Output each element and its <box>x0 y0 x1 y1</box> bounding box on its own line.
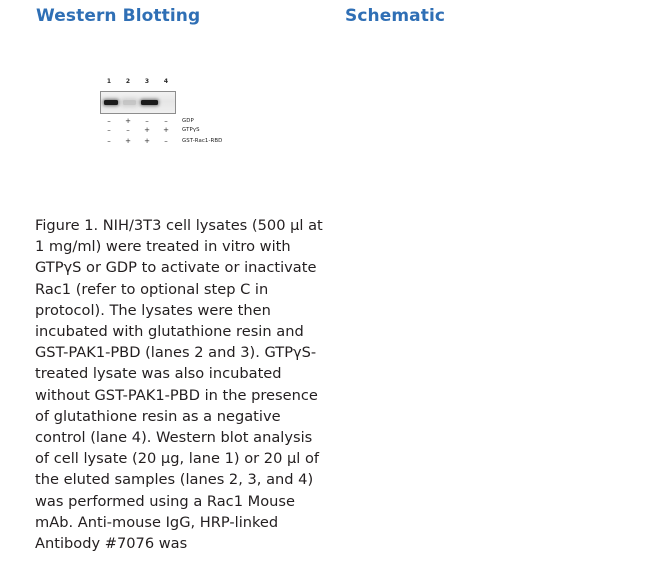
figure-page: Western Blotting 1 2 3 4 – + – – <box>0 0 662 568</box>
gtpgs-lane-2: – <box>124 126 132 135</box>
left-column: Western Blotting 1 2 3 4 – + – – <box>0 0 336 26</box>
lane-number-2: 2 <box>124 78 132 85</box>
gdp-lane-4: – <box>162 117 170 126</box>
treatment-row-gtpgs: – – + + GTPγS <box>100 126 270 137</box>
lane-number-1: 1 <box>105 78 113 85</box>
gdp-lane-2: + <box>124 117 132 126</box>
treatment-row-gst-rac1-rbd: – + + – GST-Rac1-RBD <box>100 137 270 148</box>
gtpgs-lane-4: + <box>162 126 170 135</box>
blot-treatment-table: – + – – GDP – – + + GTPγS – + + <box>100 117 270 148</box>
lane-number-4: 4 <box>162 78 170 85</box>
gdp-lane-3: – <box>143 117 151 126</box>
western-blot-figure: 1 2 3 4 – + – – GDP – <box>88 78 288 153</box>
gtpgs-lane-1: – <box>105 126 113 135</box>
right-column: Schematic Step 1 Step 2 Step 3 sample sp… <box>336 0 662 26</box>
western-blotting-heading: Western Blotting <box>36 6 336 26</box>
gst-rac1-rbd-lane-1: – <box>105 137 113 146</box>
treatment-label-gtpgs: GTPγS <box>182 126 200 135</box>
blot-band-lane-2 <box>123 100 136 105</box>
gtpgs-lane-3: + <box>143 126 151 135</box>
blot-membrane <box>100 91 176 114</box>
blot-lane-numbers: 1 2 3 4 <box>100 78 176 89</box>
gst-rac1-rbd-lane-3: + <box>143 137 151 146</box>
gst-rac1-rbd-lane-4: – <box>162 137 170 146</box>
treatment-label-gdp: GDP <box>182 117 194 126</box>
treatment-label-gst-rac1-rbd: GST-Rac1-RBD <box>182 137 222 146</box>
schematic-heading: Schematic <box>345 6 662 26</box>
blot-band-lane-1 <box>104 100 118 105</box>
figure-1-caption: Figure 1. NIH/3T3 cell lysates (500 µl a… <box>35 215 323 554</box>
lane-number-3: 3 <box>143 78 151 85</box>
gst-rac1-rbd-lane-2: + <box>124 137 132 146</box>
blot-band-lane-3 <box>141 100 158 105</box>
gdp-lane-1: – <box>105 117 113 126</box>
treatment-row-gdp: – + – – GDP <box>100 117 270 126</box>
